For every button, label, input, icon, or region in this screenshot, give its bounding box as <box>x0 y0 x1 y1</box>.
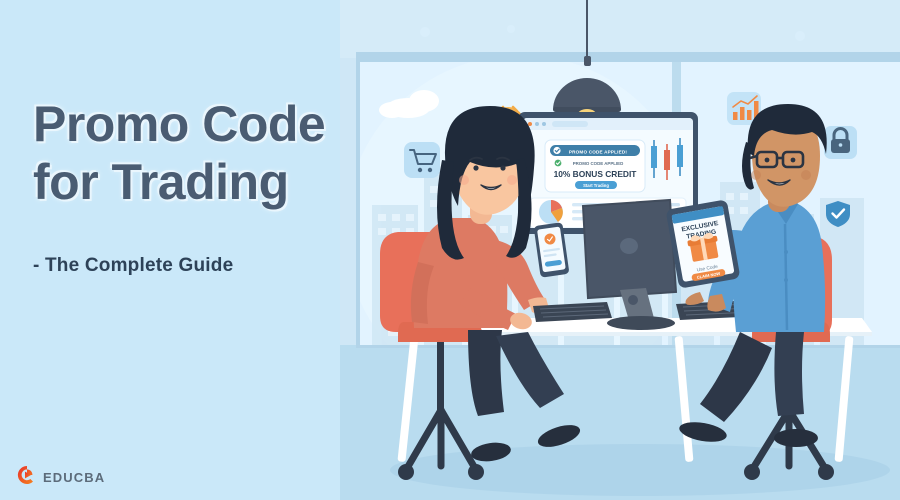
wall-dot <box>420 27 430 37</box>
shopping-cart-icon <box>404 142 440 178</box>
illustration-scene: $ <box>0 0 900 500</box>
page-title: Promo Code for Trading <box>33 95 363 211</box>
page-subtitle: - The Complete Guide <box>33 255 363 277</box>
wall-dot <box>507 25 515 33</box>
pie-chart <box>539 200 563 224</box>
shoe <box>774 429 818 447</box>
brand-name: EDUCBA <box>43 470 105 485</box>
svg-text:Start Trading: Start Trading <box>583 183 609 188</box>
padlock-icon <box>824 126 857 159</box>
wall-dot <box>795 31 805 41</box>
svg-text:PROMO CODE APPLIED: PROMO CODE APPLIED <box>573 161 624 166</box>
brand-logo[interactable]: EDUCBA <box>16 464 105 491</box>
svg-text:PROMO CODE APPLIED!: PROMO CODE APPLIED! <box>569 150 628 155</box>
educba-mark-icon <box>16 464 38 491</box>
svg-text:10% BONUS CREDIT: 10% BONUS CREDIT <box>554 169 638 179</box>
